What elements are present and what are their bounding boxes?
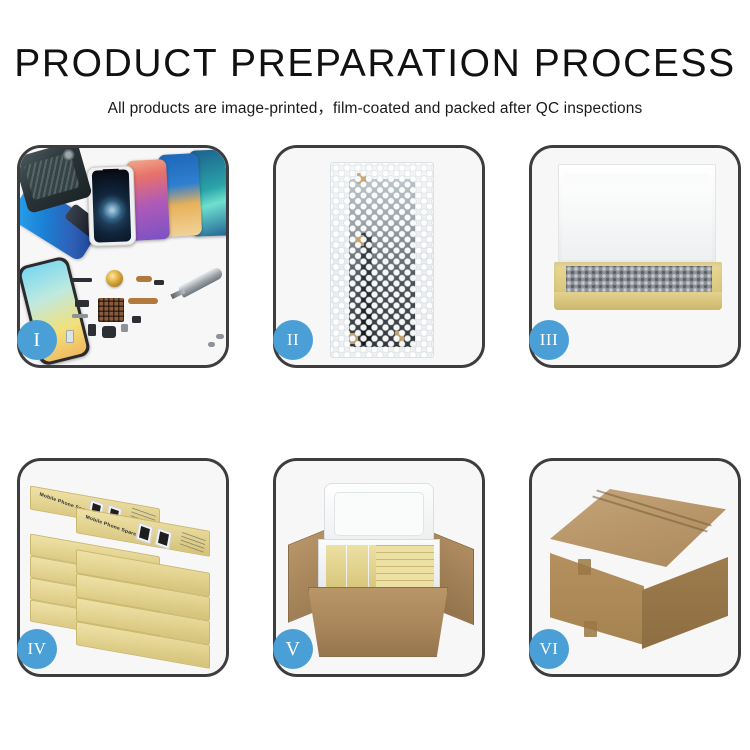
glass-screen-icon xyxy=(87,165,137,247)
page-title: PRODUCT PREPARATION PROCESS xyxy=(0,44,750,83)
step-badge-5: V xyxy=(273,629,313,669)
panel-step-4: Mobile Phone Spare Parts Mobile Phone Sp… xyxy=(17,458,229,677)
part-card-icon xyxy=(66,330,74,343)
panel-step-1: I xyxy=(17,145,229,368)
speaker-module-icon xyxy=(106,270,123,287)
part-bracket-icon xyxy=(72,314,88,318)
box-thumbnail xyxy=(155,527,173,549)
box-thumbnail xyxy=(136,522,154,544)
bubble-wrap-bag-icon xyxy=(330,162,434,358)
panel-step-2: II xyxy=(273,145,485,368)
step-badge-2: II xyxy=(273,320,313,360)
carton-tape xyxy=(584,621,597,637)
box-text-lines xyxy=(180,530,206,553)
yellow-boxes-horizontal xyxy=(376,545,434,587)
carton-tape xyxy=(578,559,591,575)
part-tiny-icon xyxy=(216,334,224,339)
tweezers-icon xyxy=(178,266,224,298)
step-badge-3: III xyxy=(529,320,569,360)
part-small-icon xyxy=(75,300,89,307)
product-preparation-infographic: PRODUCT PREPARATION PROCESS All products… xyxy=(0,0,750,750)
carton-left-face xyxy=(550,553,644,645)
phone-back-housing-icon xyxy=(20,148,93,214)
screw-grid-icon xyxy=(98,298,124,322)
gray-foam-icon xyxy=(566,266,712,294)
panel-step-5: V xyxy=(273,458,485,677)
part-flex-cable-icon xyxy=(128,298,158,304)
styrofoam-lid-icon xyxy=(324,483,434,545)
header: PRODUCT PREPARATION PROCESS All products… xyxy=(0,0,750,118)
part-chip-icon xyxy=(154,280,164,285)
part-button-icon xyxy=(88,324,96,336)
carton-body xyxy=(308,587,448,657)
part-camera-icon xyxy=(102,326,116,338)
bubble-texture xyxy=(331,163,433,357)
part-strip-icon xyxy=(70,278,92,282)
box-front-edge xyxy=(554,292,722,310)
part-screw-icon xyxy=(121,324,128,332)
part-connector-icon xyxy=(136,276,152,282)
step-badge-6: VI xyxy=(529,629,569,669)
part-tiny2-icon xyxy=(208,342,215,347)
part-ic-icon xyxy=(132,316,141,323)
white-foam-icon xyxy=(562,184,712,260)
step-badge-1: I xyxy=(17,320,57,360)
step-badge-4: IV xyxy=(17,629,57,669)
panel-step-3: III xyxy=(529,145,741,368)
process-grid: I II xyxy=(17,145,733,677)
page-subtitle: All products are image-printed，film-coat… xyxy=(0,96,750,118)
carton-right-face xyxy=(642,557,728,649)
panel-step-6: VI xyxy=(529,458,741,677)
